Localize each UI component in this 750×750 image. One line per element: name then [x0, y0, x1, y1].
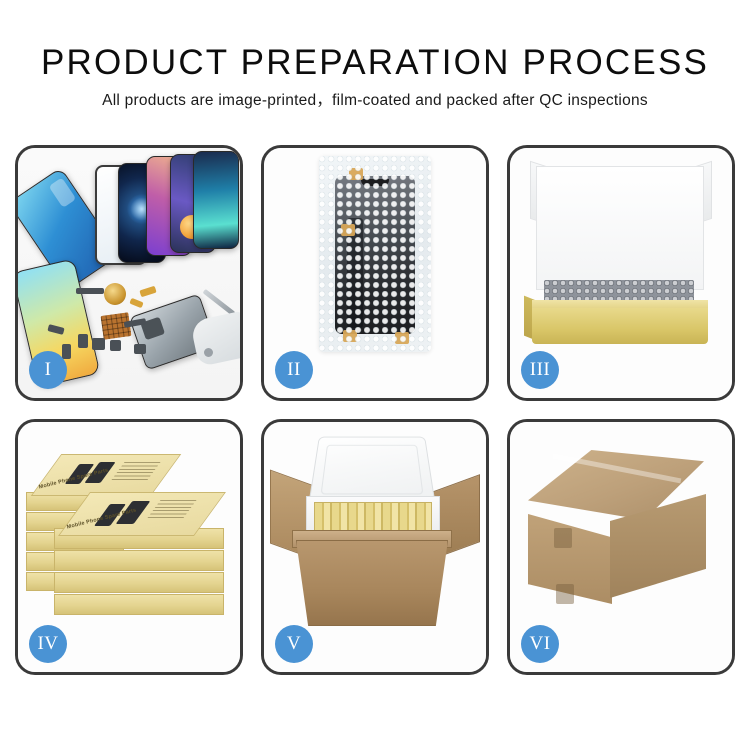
table-row	[54, 572, 224, 593]
sim-tray-part	[62, 344, 71, 359]
process-step-5[interactable]: V	[261, 419, 489, 675]
vibrator-part	[110, 340, 121, 351]
step-badge-1: I	[29, 351, 67, 389]
page-subtitle: All products are image-printed，film-coat…	[0, 91, 750, 111]
connector-part	[129, 298, 143, 308]
bubble-texture	[319, 156, 431, 352]
battery-strip-part	[76, 288, 104, 294]
flex-cable-part	[139, 286, 156, 298]
page-title: PRODUCT PREPARATION PROCESS	[0, 42, 750, 84]
speaker-part	[92, 338, 105, 350]
step-badge-3: III	[521, 351, 559, 389]
step-badge-6: VI	[521, 625, 559, 663]
table-row	[54, 550, 224, 571]
process-step-2[interactable]: II	[261, 145, 489, 401]
product-preparation-infographic: PRODUCT PREPARATION PROCESS All products…	[0, 0, 750, 750]
bubble-wrap-bag	[319, 156, 431, 352]
header: PRODUCT PREPARATION PROCESS All products…	[0, 0, 750, 111]
process-step-6[interactable]: VI	[507, 419, 735, 675]
process-step-3[interactable]: III	[507, 145, 735, 401]
table-row	[54, 594, 224, 615]
process-step-grid: I II	[15, 145, 735, 675]
gold-coil-part	[104, 283, 126, 305]
step-badge-5: V	[275, 625, 313, 663]
carton-body	[296, 540, 448, 626]
step-badge-4: IV	[29, 625, 67, 663]
step-badge-2: II	[275, 351, 313, 389]
camera-module-part	[78, 334, 88, 348]
box-front-face	[532, 308, 708, 344]
process-step-1[interactable]: I	[15, 145, 243, 401]
carton-tab-upper	[554, 528, 572, 548]
process-step-4[interactable]: Mobile Phone Spare Parts Mobile Phone Sp…	[15, 419, 243, 675]
screw-part	[204, 348, 213, 357]
box-inner-white-panel	[536, 166, 704, 290]
carton-tab-lower	[556, 584, 574, 604]
phone-screen-teal-waves	[193, 151, 239, 249]
box-stack: Mobile Phone Spare Parts Mobile Phone Sp…	[26, 440, 226, 630]
ic-chip-part	[134, 344, 146, 354]
